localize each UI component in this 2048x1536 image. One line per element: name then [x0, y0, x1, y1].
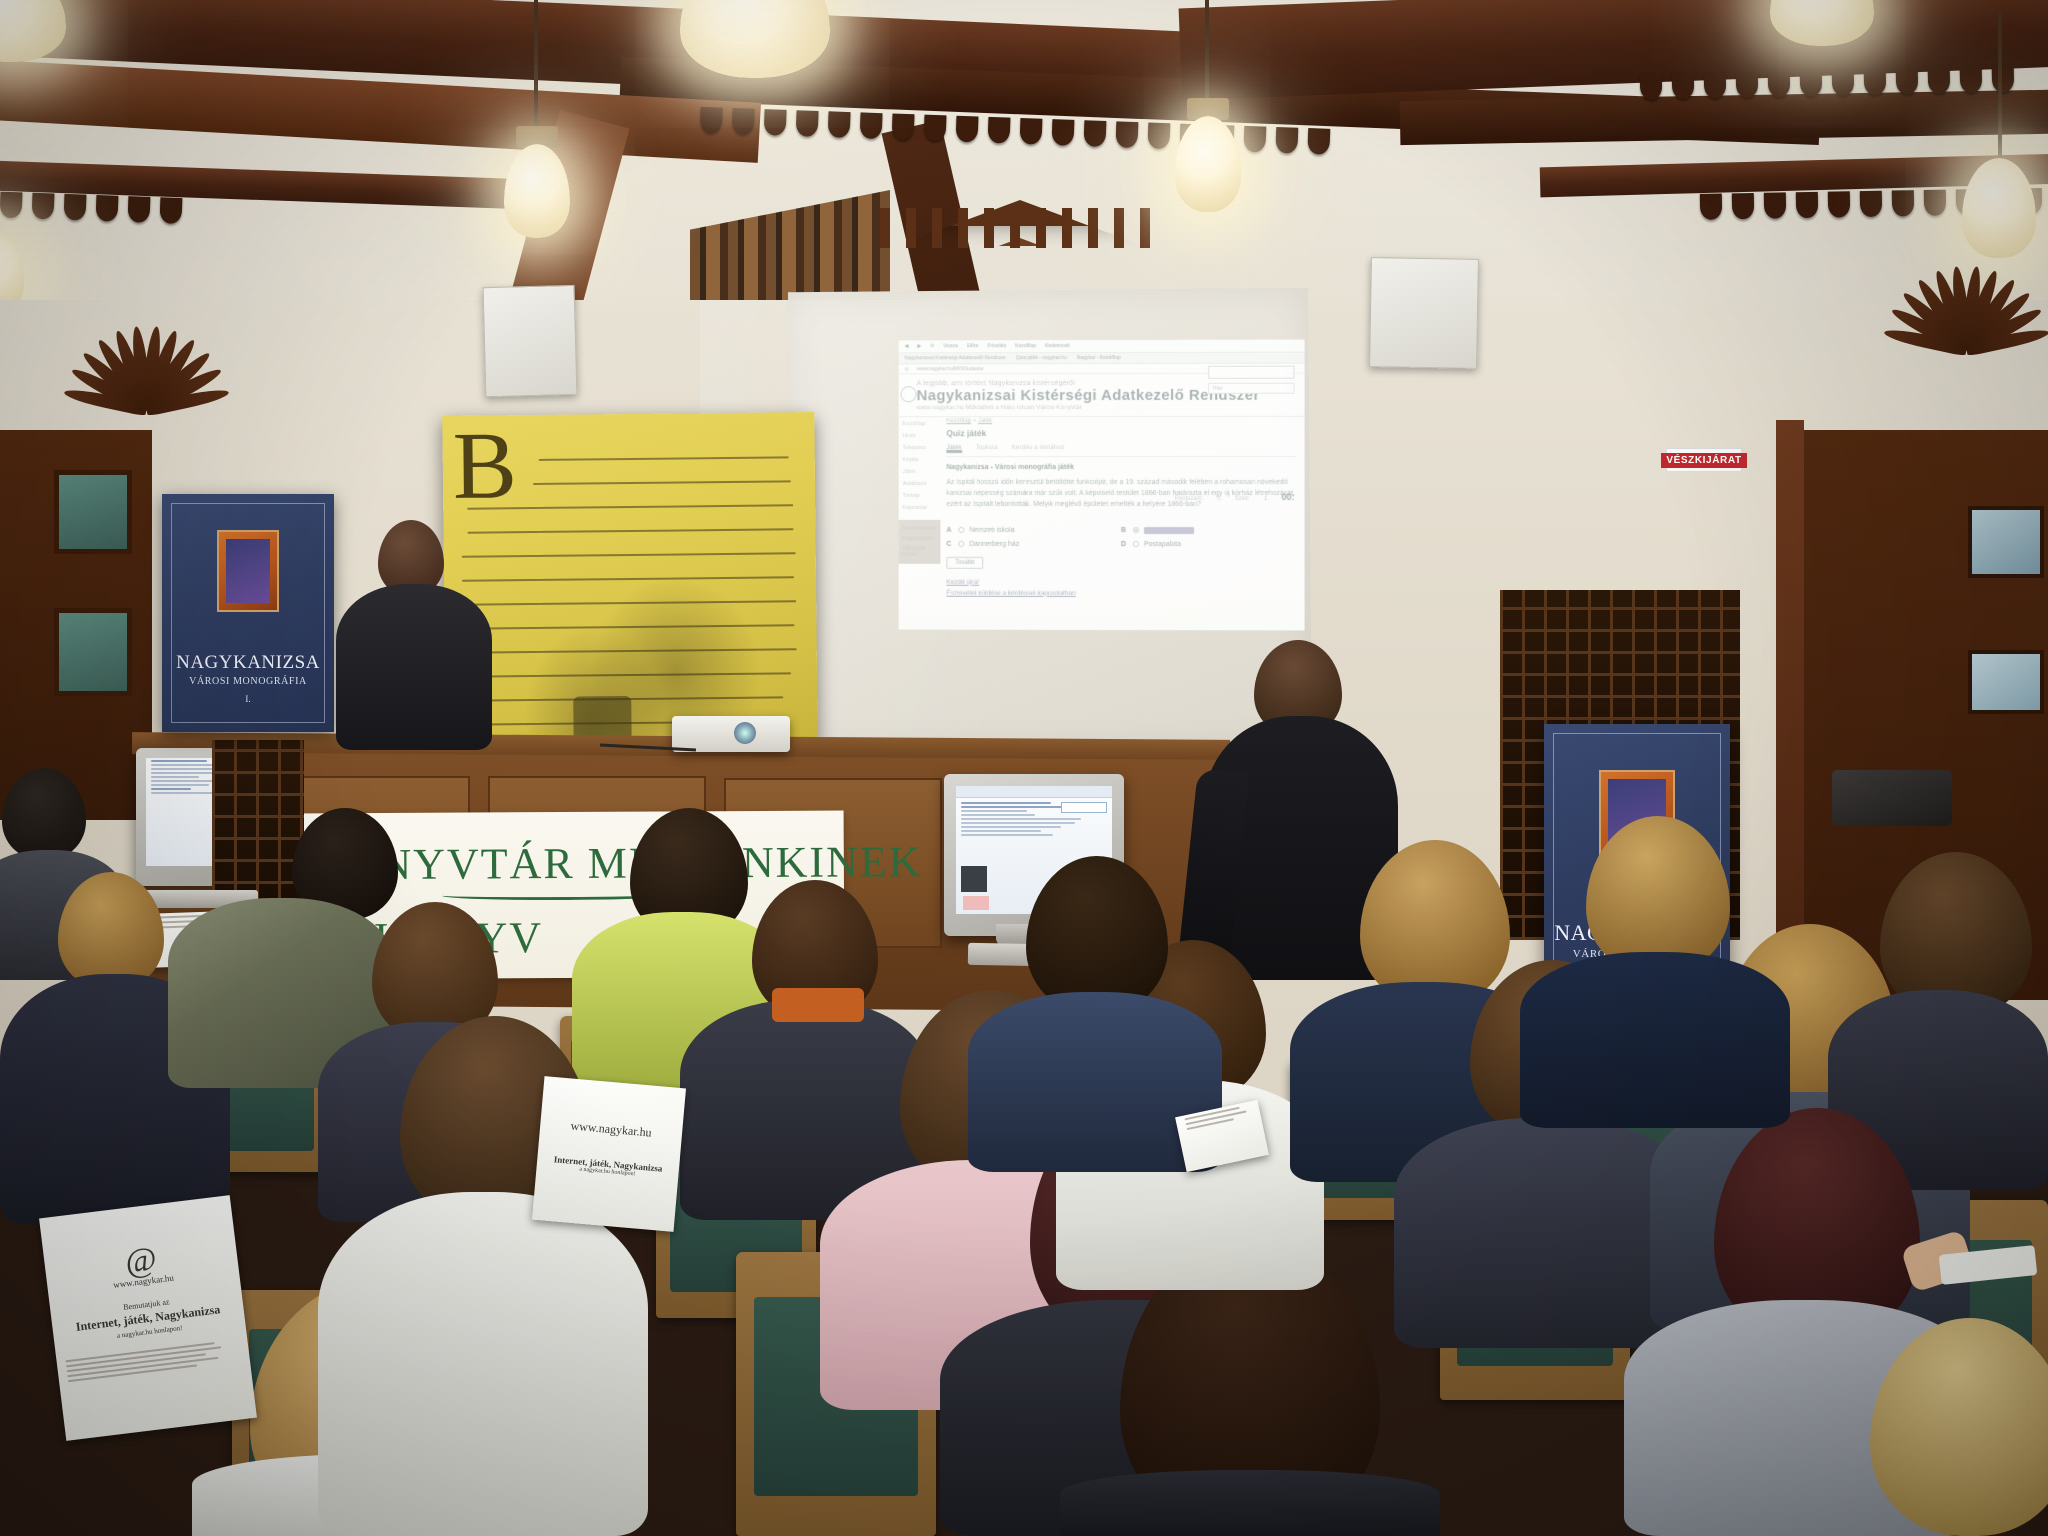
door-window-upper — [1968, 506, 2044, 578]
audience-person-7-scarf — [772, 988, 864, 1022]
sidebar-register-link[interactable]: Regisztráció — [903, 534, 937, 544]
site-main-content: Kezdőlap » Játék Quiz játék Játék Toplis… — [946, 418, 1296, 631]
restart-link[interactable]: Kezdd újra! — [946, 576, 1296, 588]
lamp-cord-2 — [1205, 0, 1209, 100]
option-c-radio[interactable] — [958, 541, 964, 547]
sidebar-item-adatbazis[interactable]: Adatbázis — [899, 478, 941, 490]
quiz-status-bar: Pontszám: 0 Szint: 1 00: — [1175, 492, 1295, 502]
crt-center-sidebar-block — [961, 866, 987, 892]
video-projector — [672, 716, 790, 752]
toolbar-reload-icon[interactable]: ⟳ — [930, 343, 934, 349]
handout-paper-left[interactable]: @ www.nagykar.hu Bemutatjuk az Internet,… — [39, 1195, 257, 1441]
presenter-left-body — [336, 584, 492, 750]
lamp-cord-1 — [534, 0, 538, 128]
carved-fan-ornament-right — [1830, 220, 2048, 350]
sidebar-forgot-link[interactable]: Elfelejtett jelszó — [903, 544, 937, 560]
breadcrumb-root[interactable]: Kezdőlap — [946, 418, 971, 424]
poster-1-volume: I. — [162, 694, 334, 704]
gable-finial-ornament — [880, 208, 1160, 248]
option-c-label[interactable]: Dannerberg ház — [969, 540, 1019, 547]
browser-tab-0[interactable]: Nagykanizsai Kistérségi Adatkezelő Rends… — [905, 355, 1006, 361]
projector-lens — [734, 722, 756, 744]
round-label: Szint: — [1235, 496, 1250, 502]
search-input[interactable] — [1208, 366, 1294, 379]
toolbar-item-2[interactable]: Frissítés — [987, 343, 1006, 349]
carved-fan-ornament-left — [10, 280, 270, 410]
sidebar-item-telepules[interactable]: Település — [899, 442, 941, 454]
option-b-letter: B — [1121, 527, 1128, 534]
charter-initial-letter: B — [452, 429, 515, 525]
feedback-link[interactable]: Észrevétel küldése a kérdéssel kapcsolat… — [946, 587, 1296, 599]
poster-1-artwork — [217, 530, 279, 612]
toolbar-item-3[interactable]: Kezdőlap — [1015, 343, 1036, 349]
crt-center-search-box[interactable] — [1061, 802, 1107, 813]
quiz-option-d[interactable]: D Postapalota — [1121, 541, 1297, 548]
audience-person-16-body — [1394, 1118, 1694, 1348]
poster-1-title: NAGYKANIZSA — [162, 652, 334, 674]
crt-center-browser-chrome — [956, 786, 1112, 798]
poster-monografia-1: NAGYKANIZSA VÁROSI MONOGRÁFIA I. — [162, 494, 334, 732]
quiz-timer: 00: — [1281, 492, 1294, 502]
sidebar-item-kapcsolat[interactable]: Kapcsolat — [899, 502, 941, 514]
sidebar-item-terkep[interactable]: Térkép — [899, 490, 941, 502]
audience-person-11-body — [1060, 1470, 1440, 1536]
sidebar-item-keptar[interactable]: Képtár — [899, 454, 941, 466]
site-logo-icon — [901, 386, 917, 402]
browser-tab-1[interactable]: Quiz játék - nagykar.hu — [1016, 355, 1067, 361]
option-d-label[interactable]: Postapalota — [1144, 541, 1181, 548]
option-d-radio[interactable] — [1133, 541, 1139, 547]
door-window-lower — [1968, 650, 2044, 714]
tab-jatek[interactable]: Játék — [946, 444, 961, 453]
breadcrumb-current[interactable]: Játék — [978, 418, 992, 424]
window-pane-lower-left — [54, 608, 132, 696]
score-label: Pontszám: — [1175, 496, 1203, 502]
quiz-title: Nagykanizsa - Városi monográfia játék — [946, 464, 1296, 471]
globe-icon: ◎ — [905, 366, 909, 372]
option-a-letter: A — [946, 526, 953, 533]
sidebar-login-link[interactable]: Bejelentkezés — [903, 524, 937, 534]
quiz-footer-links[interactable]: Kezdd újra! Észrevétel küldése a kérdéss… — [946, 576, 1296, 599]
audience-person-8-body — [318, 1192, 648, 1536]
option-a-radio[interactable] — [958, 527, 964, 533]
quiz-next-button[interactable]: Tovább — [946, 556, 983, 568]
handout-2-brand: www.nagykar.hu — [540, 1116, 683, 1143]
site-sidebar[interactable]: Kezdőlap Hírek Település Képtár Játék Ad… — [899, 418, 941, 629]
option-c-letter: C — [946, 540, 953, 547]
toolbar-back-icon[interactable]: ◀ — [905, 343, 909, 349]
lattice-screen-panel-left — [212, 740, 304, 906]
coat-hook-rail — [1832, 770, 1952, 826]
poster-1-artwork-inner — [226, 539, 270, 603]
tab-toplista[interactable]: Toplista — [976, 444, 998, 453]
round-value: 1 — [1264, 496, 1267, 502]
sidebar-item-jatek[interactable]: Játék — [899, 466, 941, 478]
page-title: Quiz játék — [946, 428, 1296, 438]
toolbar-item-4[interactable]: Kedvencek — [1045, 343, 1070, 349]
quiz-option-c[interactable]: C Dannerberg ház — [946, 540, 1121, 547]
breadcrumb-separator: » — [973, 418, 976, 424]
browser-tab-2[interactable]: Nagykar - Kezdőlap — [1077, 355, 1121, 361]
option-b-label[interactable]: Kórház — [1144, 527, 1194, 534]
emergency-exit-sign: VÉSZKIJÁRAT — [1666, 448, 1742, 472]
quiz-option-a[interactable]: A Nemzeti iskola — [946, 526, 1121, 533]
exit-sign-label: VÉSZKIJÁRAT — [1661, 453, 1746, 468]
option-a-label[interactable]: Nemzeti iskola — [969, 526, 1014, 533]
score-value: 0 — [1217, 496, 1220, 502]
wall-speaker-right — [1369, 257, 1479, 369]
toolbar-item-1[interactable]: Előre — [967, 343, 979, 349]
sidebar-item-hirek[interactable]: Hírek — [899, 430, 941, 442]
charter-seal-stain — [573, 696, 631, 741]
tab-kerdes-a-temahoz[interactable]: Kérdés a témához — [1012, 444, 1065, 453]
poster-1-subtitle: VÁROSI MONOGRÁFIA — [162, 676, 334, 687]
audience-person-21-body — [1520, 952, 1790, 1128]
medieval-charter-reproduction: B — [442, 412, 817, 748]
search-filter-select[interactable]: Títre — [1208, 383, 1294, 394]
option-d-letter: D — [1121, 541, 1128, 548]
toolbar-forward-icon[interactable]: ▶ — [917, 343, 921, 349]
option-b-radio[interactable] — [1133, 527, 1139, 533]
wall-speaker-left — [483, 285, 578, 397]
crt-center-alert-strip — [963, 896, 989, 910]
browser-tab-strip[interactable]: Nagykanizsai Kistérségi Adatkezelő Rends… — [899, 353, 1305, 365]
photo-scene: VÉSZKIJÁRAT ◀ ▶ ⟳ Vissza Előre Frissítés… — [0, 0, 2048, 1536]
lamp-cord-7 — [1998, 10, 2002, 160]
quiz-options[interactable]: A Nemzeti iskola B Kórház C Dannerberg h… — [946, 526, 1296, 547]
search-area[interactable]: Títre — [1208, 366, 1294, 394]
address-text[interactable]: www.nagykar.hu/MOKtudastar — [917, 366, 984, 372]
projected-browser-window[interactable]: ◀ ▶ ⟳ Vissza Előre Frissítés Kezdőlap Ke… — [899, 340, 1305, 631]
door-frame-right — [1776, 420, 1804, 1010]
sidebar-item-kezdolap[interactable]: Kezdőlap — [899, 418, 941, 430]
breadcrumb[interactable]: Kezdőlap » Játék — [946, 418, 1296, 424]
quiz-tab-bar[interactable]: Játék Toplista Kérdés a témához — [946, 444, 1296, 457]
sidebar-login-panel[interactable]: Bejelentkezés Regisztráció Elfelejtett j… — [899, 520, 941, 564]
quiz-option-b[interactable]: B Kórház — [1121, 527, 1297, 534]
browser-toolbar[interactable]: ◀ ▶ ⟳ Vissza Előre Frissítés Kezdőlap Ke… — [899, 340, 1305, 354]
window-pane-upper-left — [54, 470, 132, 554]
toolbar-item-0[interactable]: Vissza — [943, 343, 958, 349]
handout-paper-center[interactable]: www.nagykar.hu Internet, játék, Nagykani… — [532, 1076, 686, 1232]
site-subtitle: www.nagykar.hu Működteti a Halis István … — [917, 404, 1305, 411]
